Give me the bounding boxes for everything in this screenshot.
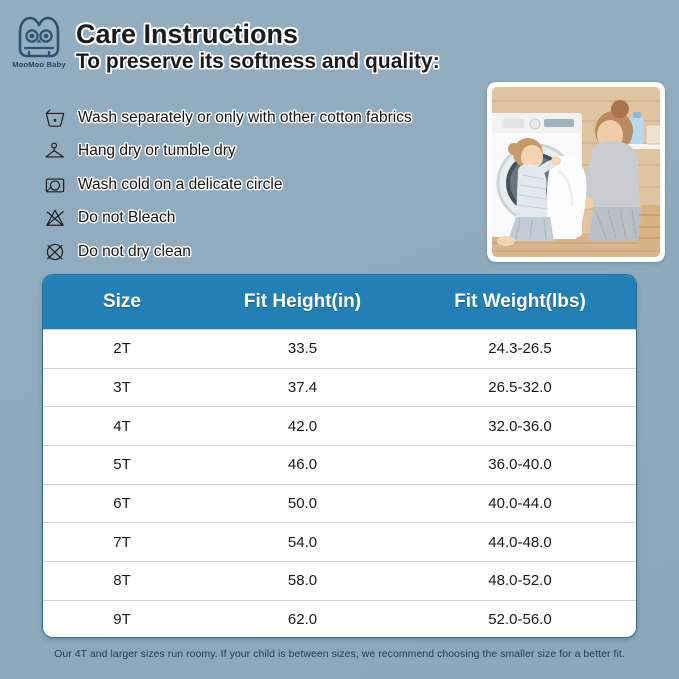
tumble-dry-box-icon [44, 175, 78, 195]
table-row: 8T 58.0 48.0-52.0 [43, 561, 636, 600]
cell-height: 50.0 [201, 495, 404, 512]
wash-tub-icon [44, 108, 78, 128]
page-subtitle: To preserve its softness and quality: [76, 50, 440, 73]
table-row: 5T 46.0 36.0-40.0 [43, 445, 636, 484]
table-row: 7T 54.0 44.0-48.0 [43, 522, 636, 561]
care-instruction-label: Wash separately or only with other cotto… [78, 109, 412, 127]
cell-height: 58.0 [201, 572, 404, 589]
cell-size: 8T [43, 572, 201, 589]
cell-size: 7T [43, 534, 201, 551]
lifestyle-photo [492, 87, 660, 257]
cell-size: 4T [43, 418, 201, 435]
cell-height: 33.5 [201, 340, 404, 357]
cell-weight: 26.5-32.0 [404, 379, 636, 396]
size-chart-table: Size Fit Height(in) Fit Weight(lbs) 2T 3… [42, 274, 637, 638]
cell-weight: 24.3-26.5 [404, 340, 636, 357]
cell-height: 54.0 [201, 534, 404, 551]
cell-size: 6T [43, 495, 201, 512]
sizing-footnote: Our 4T and larger sizes run roomy. If yo… [0, 648, 679, 660]
page-title: Care Instructions [76, 20, 440, 49]
care-instruction-item: Do not dry clean [44, 235, 494, 269]
cell-height: 42.0 [201, 418, 404, 435]
cell-height: 37.4 [201, 379, 404, 396]
care-instruction-label: Wash cold on a delicate circle [78, 176, 282, 194]
cell-weight: 40.0-44.0 [404, 495, 636, 512]
cell-weight: 48.0-52.0 [404, 572, 636, 589]
hanger-dry-icon [44, 141, 78, 161]
cell-weight: 32.0-36.0 [404, 418, 636, 435]
cell-weight: 44.0-48.0 [404, 534, 636, 551]
care-instruction-label: Do not Bleach [78, 209, 175, 227]
owl-icon [16, 16, 62, 58]
cell-size: 9T [43, 611, 201, 628]
cell-height: 62.0 [201, 611, 404, 628]
do-not-dry-clean-icon [44, 242, 78, 262]
cell-weight: 52.0-56.0 [404, 611, 636, 628]
column-header-weight: Fit Weight(lbs) [404, 291, 636, 313]
title-block: Care Instructions To preserve its softne… [76, 20, 440, 73]
care-instruction-label: Do not dry clean [78, 243, 191, 261]
brand-name: MooMoo Baby [12, 60, 65, 69]
care-instruction-item: Wash separately or only with other cotto… [44, 101, 494, 135]
table-row: 4T 42.0 32.0-36.0 [43, 406, 636, 445]
table-row: 6T 50.0 40.0-44.0 [43, 484, 636, 523]
table-header-row: Size Fit Height(in) Fit Weight(lbs) [43, 275, 636, 329]
care-instruction-item: Wash cold on a delicate circle [44, 168, 494, 202]
table-row: 2T 33.5 24.3-26.5 [43, 329, 636, 368]
care-instruction-list: Wash separately or only with other cotto… [44, 101, 494, 269]
column-header-size: Size [43, 291, 201, 313]
cell-size: 2T [43, 340, 201, 357]
cell-height: 46.0 [201, 456, 404, 473]
cell-weight: 36.0-40.0 [404, 456, 636, 473]
do-not-bleach-icon [44, 208, 78, 228]
lifestyle-photo-card [487, 82, 665, 262]
column-header-height: Fit Height(in) [201, 291, 404, 313]
brand-logo: MooMoo Baby [8, 16, 70, 80]
care-instruction-label: Hang dry or tumble dry [78, 142, 236, 160]
header-banner: MooMoo Baby Care Instructions To preserv… [0, 0, 679, 95]
care-instruction-item: Do not Bleach [44, 202, 494, 236]
care-instruction-item: Hang dry or tumble dry [44, 135, 494, 169]
table-row: 3T 37.4 26.5-32.0 [43, 368, 636, 407]
table-row: 9T 62.0 52.0-56.0 [43, 600, 636, 638]
cell-size: 3T [43, 379, 201, 396]
cell-size: 5T [43, 456, 201, 473]
